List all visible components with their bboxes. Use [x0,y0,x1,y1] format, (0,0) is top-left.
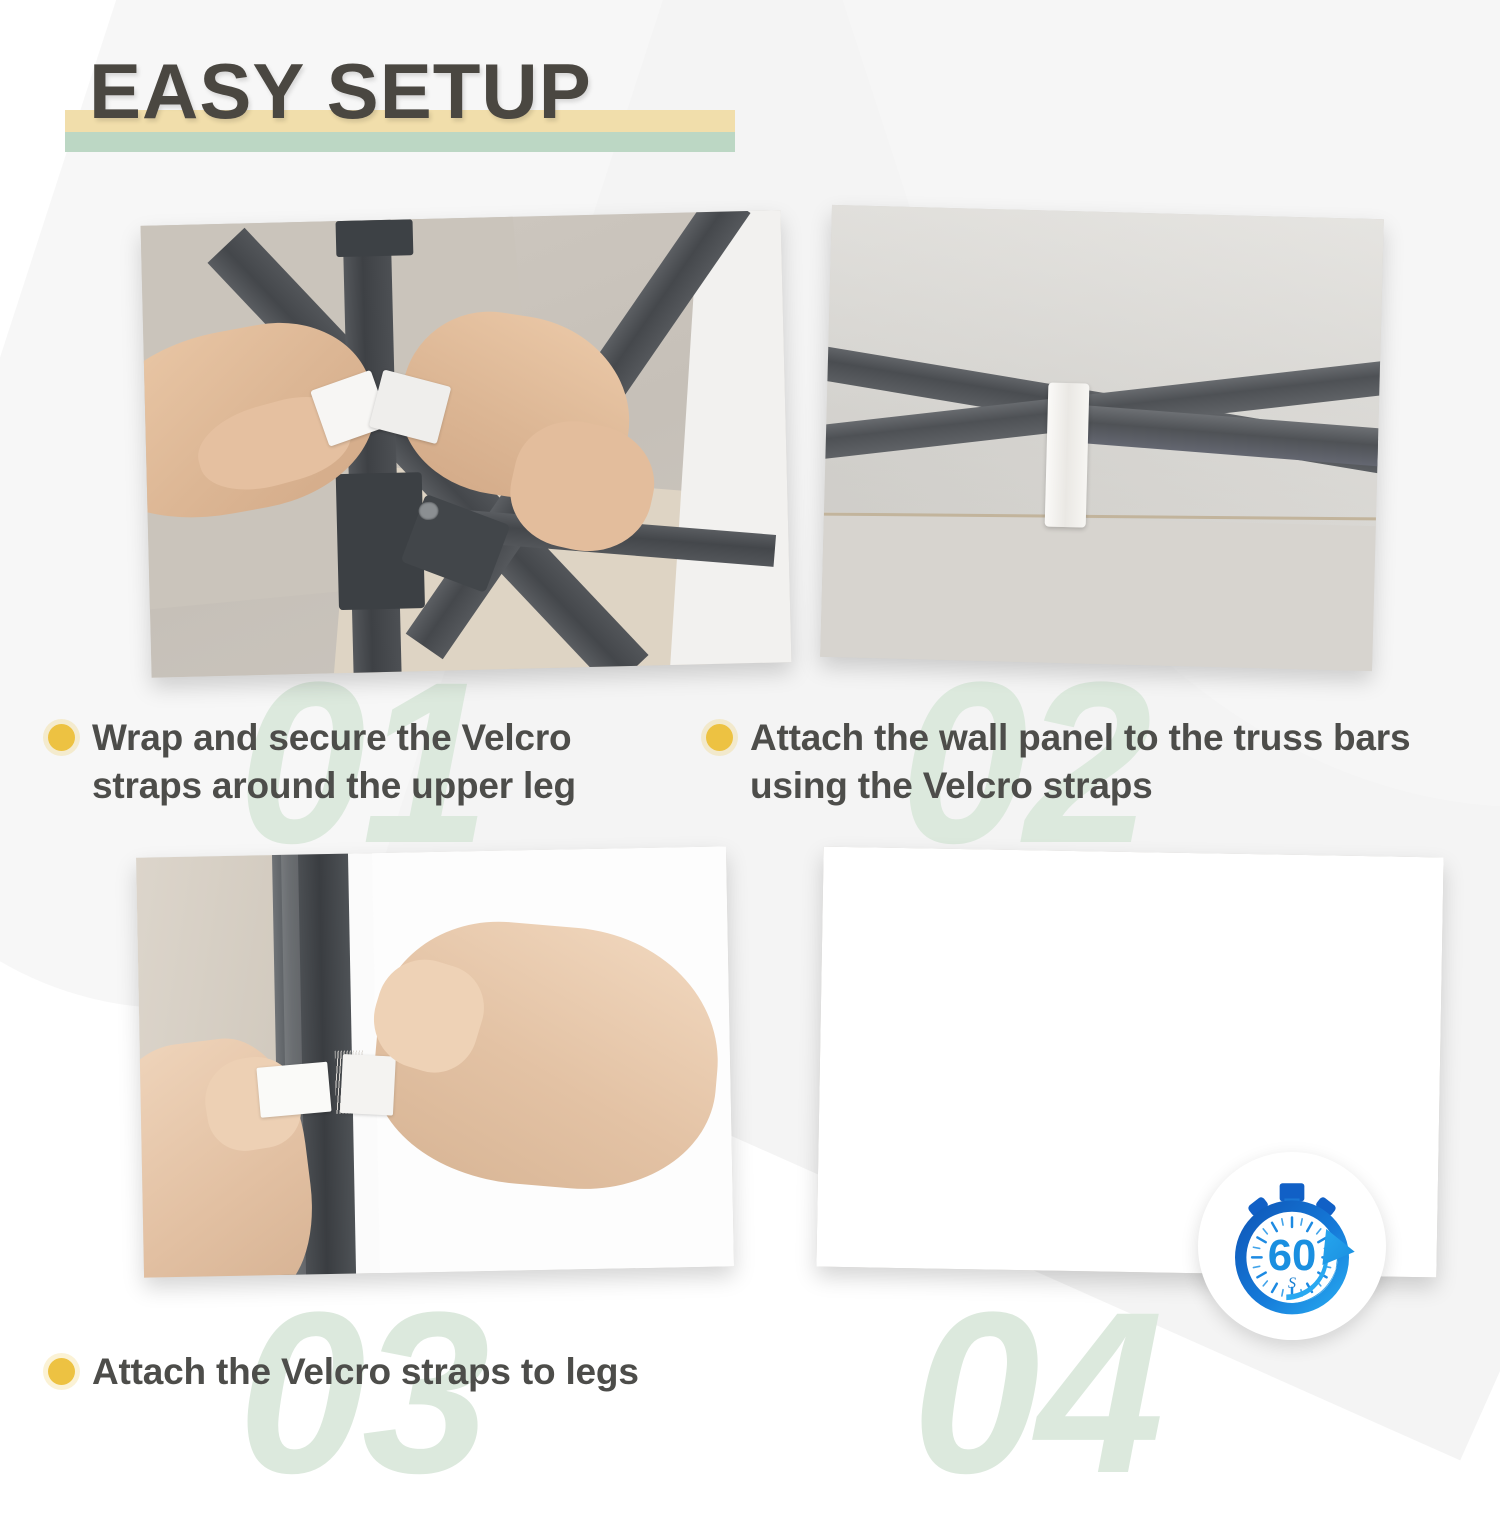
page-title: EASY SETUP [65,52,592,130]
bullet-dot-icon [706,724,733,751]
step-caption-text-02: Attach the wall panel to the truss bars … [750,714,1446,810]
setup-time-badge: 60 S [1198,1152,1386,1340]
step-caption-02: Attach the wall panel to the truss bars … [706,714,1446,810]
stopwatch-icon: 60 S [1216,1170,1368,1322]
velcro-strap-wrap [1044,382,1089,528]
joint-screw [419,501,439,520]
step-photo-02 [820,205,1384,671]
photo-scene-velcro-truss-bars [820,205,1384,671]
bullet-dot-icon [48,724,75,751]
velcro-strap-hook-side [256,1062,331,1118]
velcro-strap-loop-side [340,1054,396,1115]
step-photo-01 [141,210,792,678]
step-caption-text-03: Attach the Velcro straps to legs [92,1348,639,1396]
infographic-canvas: EASY SETUP 01 02 03 04 [0,0,1500,1500]
photo-scene-velcro-upper-leg [141,210,792,678]
bullet-dot-icon [48,1358,75,1385]
step-caption-03: Attach the Velcro straps to legs [48,1348,668,1396]
step-number-watermark-04: 04 [912,1278,1160,1508]
badge-unit: S [1288,1275,1296,1292]
photo-scene-velcro-leg [136,846,734,1277]
step-photo-03 [136,846,734,1277]
step-caption-text-01: Wrap and secure the Velcro straps around… [92,714,678,810]
step-caption-01: Wrap and secure the Velcro straps around… [48,714,678,810]
page-title-text: EASY SETUP [65,52,592,130]
badge-value: 60 [1268,1231,1317,1280]
title-bar-green [65,132,735,152]
